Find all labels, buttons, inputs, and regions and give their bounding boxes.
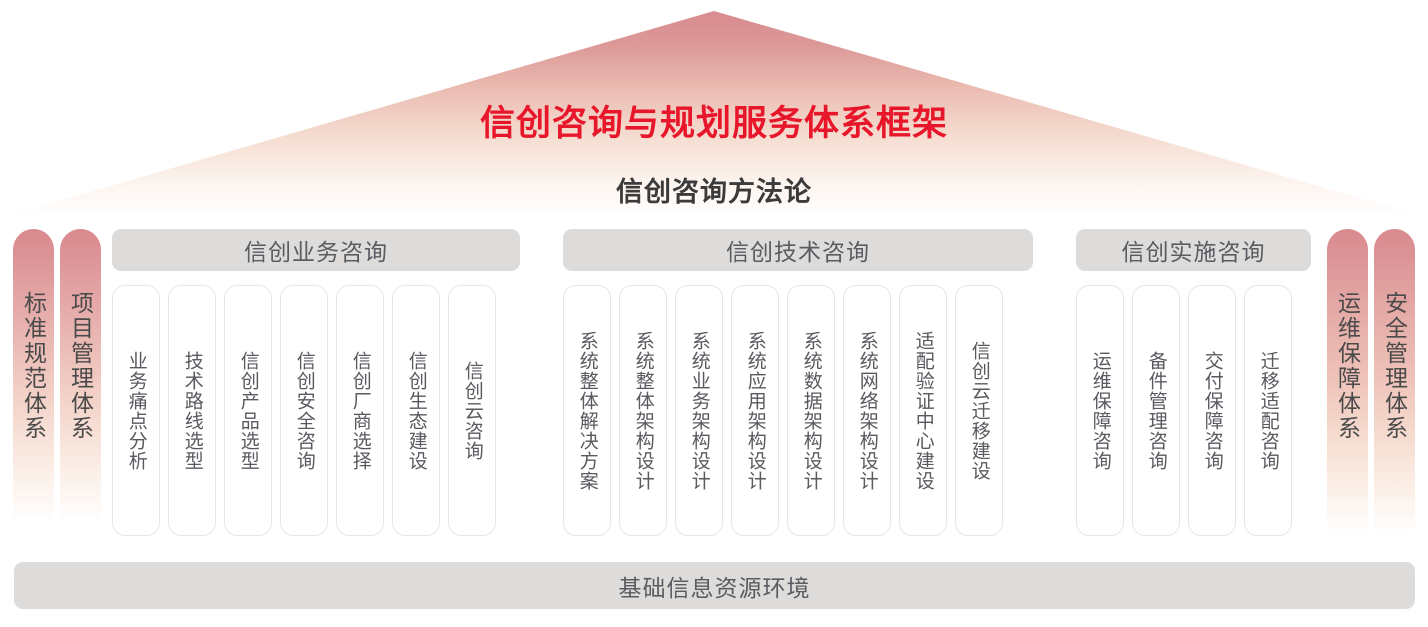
- card-list: 业务痛点分析 技术路线选型 信创产品选型 信创安全咨询 信创厂商选择 信创生态建…: [112, 285, 496, 536]
- card-item[interactable]: 系统业务架构设计: [675, 285, 723, 536]
- card-label: 信创生态建设: [405, 351, 426, 471]
- card-label: 信创安全咨询: [293, 351, 314, 471]
- card-item[interactable]: 业务痛点分析: [112, 285, 160, 536]
- card-label: 备件管理咨询: [1145, 351, 1166, 471]
- card-label: 交付保障咨询: [1201, 351, 1222, 471]
- foundation-label: 基础信息资源环境: [619, 569, 811, 603]
- card-item[interactable]: 备件管理咨询: [1132, 285, 1180, 536]
- pillar-label: 运维保障体系: [1335, 291, 1361, 441]
- pillar-security-management-system[interactable]: 安全管理体系: [1374, 229, 1415, 536]
- card-label: 信创云迁移建设: [968, 341, 989, 481]
- card-item[interactable]: 系统应用架构设计: [731, 285, 779, 536]
- card-item[interactable]: 信创云迁移建设: [955, 285, 1003, 536]
- card-item[interactable]: 运维保障咨询: [1076, 285, 1124, 536]
- pillar-label: 安全管理体系: [1382, 291, 1408, 441]
- card-label: 信创厂商选择: [349, 351, 370, 471]
- card-item[interactable]: 信创产品选型: [224, 285, 272, 536]
- card-item[interactable]: 技术路线选型: [168, 285, 216, 536]
- card-list: 运维保障咨询 备件管理咨询 交付保障咨询 迁移适配咨询: [1076, 285, 1292, 536]
- card-item[interactable]: 系统网络架构设计: [843, 285, 891, 536]
- card-label: 系统网络架构设计: [856, 331, 877, 491]
- card-label: 技术路线选型: [181, 351, 202, 471]
- card-label: 信创产品选型: [237, 351, 258, 471]
- card-item[interactable]: 信创安全咨询: [280, 285, 328, 536]
- card-item[interactable]: 系统数据架构设计: [787, 285, 835, 536]
- group-technology-consulting: 信创技术咨询 系统整体解决方案 系统整体架构设计 系统业务架构设计 系统应用架构…: [563, 229, 1033, 271]
- pillar-ops-assurance-system[interactable]: 运维保障体系: [1327, 229, 1368, 536]
- card-label: 系统数据架构设计: [800, 331, 821, 491]
- card-item[interactable]: 信创云咨询: [448, 285, 496, 536]
- group-header[interactable]: 信创技术咨询: [563, 229, 1033, 271]
- card-item[interactable]: 系统整体解决方案: [563, 285, 611, 536]
- card-label: 适配验证中心建设: [912, 331, 933, 491]
- card-label: 系统整体架构设计: [632, 331, 653, 491]
- card-item[interactable]: 交付保障咨询: [1188, 285, 1236, 536]
- card-label: 运维保障咨询: [1089, 351, 1110, 471]
- card-label: 系统整体解决方案: [576, 331, 597, 491]
- foundation-bar[interactable]: 基础信息资源环境: [14, 562, 1415, 609]
- pillar-label: 标准规范体系: [21, 291, 47, 441]
- group-header[interactable]: 信创实施咨询: [1076, 229, 1311, 271]
- group-header[interactable]: 信创业务咨询: [112, 229, 520, 271]
- card-label: 信创云咨询: [461, 361, 482, 461]
- card-label: 迁移适配咨询: [1257, 351, 1278, 471]
- roof-shape: [0, 0, 1428, 218]
- pillar-label: 项目管理体系: [68, 291, 94, 441]
- card-item[interactable]: 信创生态建设: [392, 285, 440, 536]
- card-label: 系统应用架构设计: [744, 331, 765, 491]
- card-item[interactable]: 迁移适配咨询: [1244, 285, 1292, 536]
- card-item[interactable]: 系统整体架构设计: [619, 285, 667, 536]
- card-item[interactable]: 信创厂商选择: [336, 285, 384, 536]
- card-list: 系统整体解决方案 系统整体架构设计 系统业务架构设计 系统应用架构设计 系统数据…: [563, 285, 1003, 536]
- group-implementation-consulting: 信创实施咨询 运维保障咨询 备件管理咨询 交付保障咨询 迁移适配咨询: [1076, 229, 1311, 271]
- card-label: 业务痛点分析: [125, 351, 146, 471]
- diagram-canvas: 信创咨询与规划服务体系框架 信创咨询方法论 标准规范体系 项目管理体系 运维保障…: [0, 0, 1428, 627]
- card-item[interactable]: 适配验证中心建设: [899, 285, 947, 536]
- pillar-standard-spec-system[interactable]: 标准规范体系: [13, 229, 54, 536]
- pillar-project-management-system[interactable]: 项目管理体系: [60, 229, 101, 536]
- group-business-consulting: 信创业务咨询 业务痛点分析 技术路线选型 信创产品选型 信创安全咨询 信创厂商选…: [112, 229, 520, 271]
- card-label: 系统业务架构设计: [688, 331, 709, 491]
